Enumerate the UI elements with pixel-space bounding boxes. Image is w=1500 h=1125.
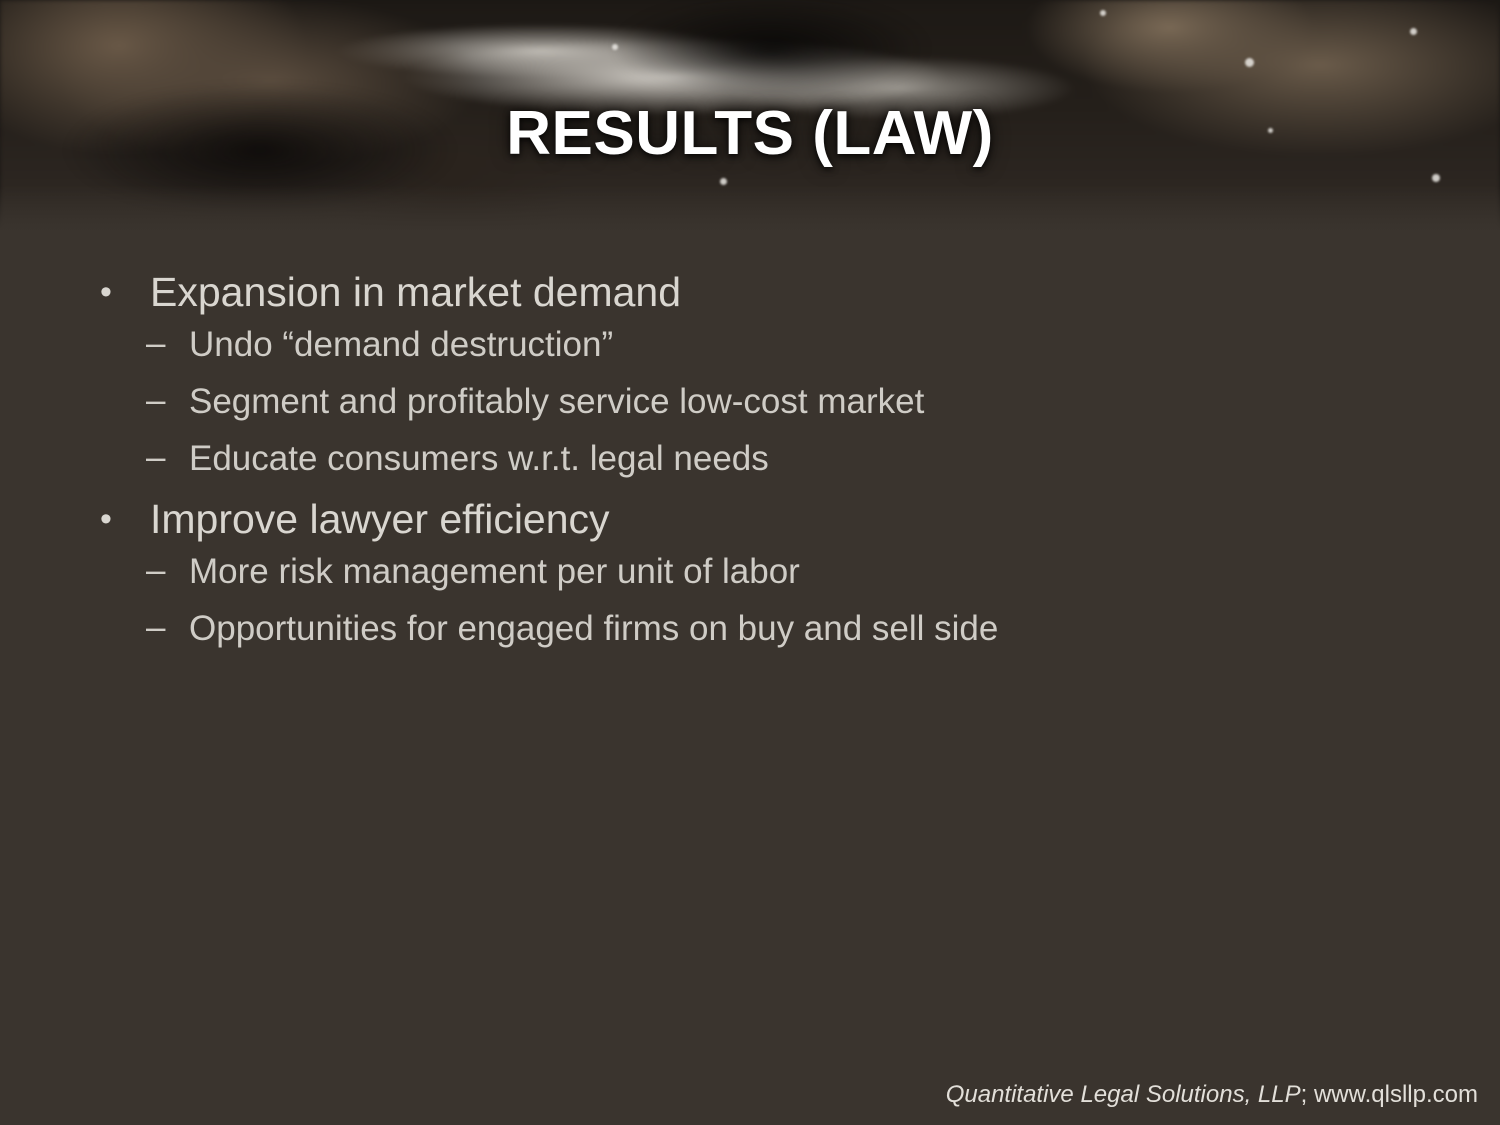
photo-speck [1432,174,1440,182]
bullet-dot-icon: • [100,272,112,313]
sub-bullet-list: – More risk management per unit of labor… [84,554,1424,648]
footer-firm-name: Quantitative Legal Solutions, LLP [946,1081,1301,1108]
sub-bullet-item: – Segment and profitably service low-cos… [84,384,1424,421]
photo-speck [612,44,618,50]
footer-separator: ; [1301,1081,1314,1108]
sub-bullet-text: Educate consumers w.r.t. legal needs [189,439,769,478]
presentation-slide: RESULTS (LAW) • Expansion in market dema… [0,0,1500,1125]
sub-bullet-item: – More risk management per unit of labor [84,554,1424,591]
page-title: RESULTS (LAW) [0,98,1500,169]
photo-fade-overlay [0,186,1500,232]
bullet-text: Expansion in market demand [150,269,681,315]
dash-icon: – [146,383,165,420]
sub-bullet-text: Opportunities for engaged firms on buy a… [189,609,998,648]
bullet-item: • Improve lawyer efficiency [84,499,1424,540]
photo-speck [1245,58,1254,67]
bullet-text: Improve lawyer efficiency [150,496,610,542]
sub-bullet-item: – Opportunities for engaged firms on buy… [84,611,1424,648]
sub-bullet-text: Undo “demand destruction” [189,325,613,364]
slide-body: • Expansion in market demand – Undo “dem… [84,272,1424,670]
bullet-item: • Expansion in market demand [84,272,1424,313]
photo-speck [720,178,727,185]
sub-bullet-list: – Undo “demand destruction” – Segment an… [84,327,1424,477]
sub-bullet-text: More risk management per unit of labor [189,552,800,591]
sub-bullet-text: Segment and profitably service low-cost … [189,382,924,421]
bullet-list: • Expansion in market demand – Undo “dem… [84,272,1424,648]
sub-bullet-item: – Undo “demand destruction” [84,327,1424,364]
photo-speck [1100,10,1106,16]
dash-icon: – [146,440,165,477]
dash-icon: – [146,326,165,363]
bullet-dot-icon: • [100,499,112,540]
slide-footer: Quantitative Legal Solutions, LLP; www.q… [946,1081,1478,1109]
dash-icon: – [146,610,165,647]
footer-website[interactable]: www.qlsllp.com [1314,1081,1478,1108]
photo-speck [1410,28,1417,35]
sub-bullet-item: – Educate consumers w.r.t. legal needs [84,441,1424,478]
dash-icon: – [146,553,165,590]
